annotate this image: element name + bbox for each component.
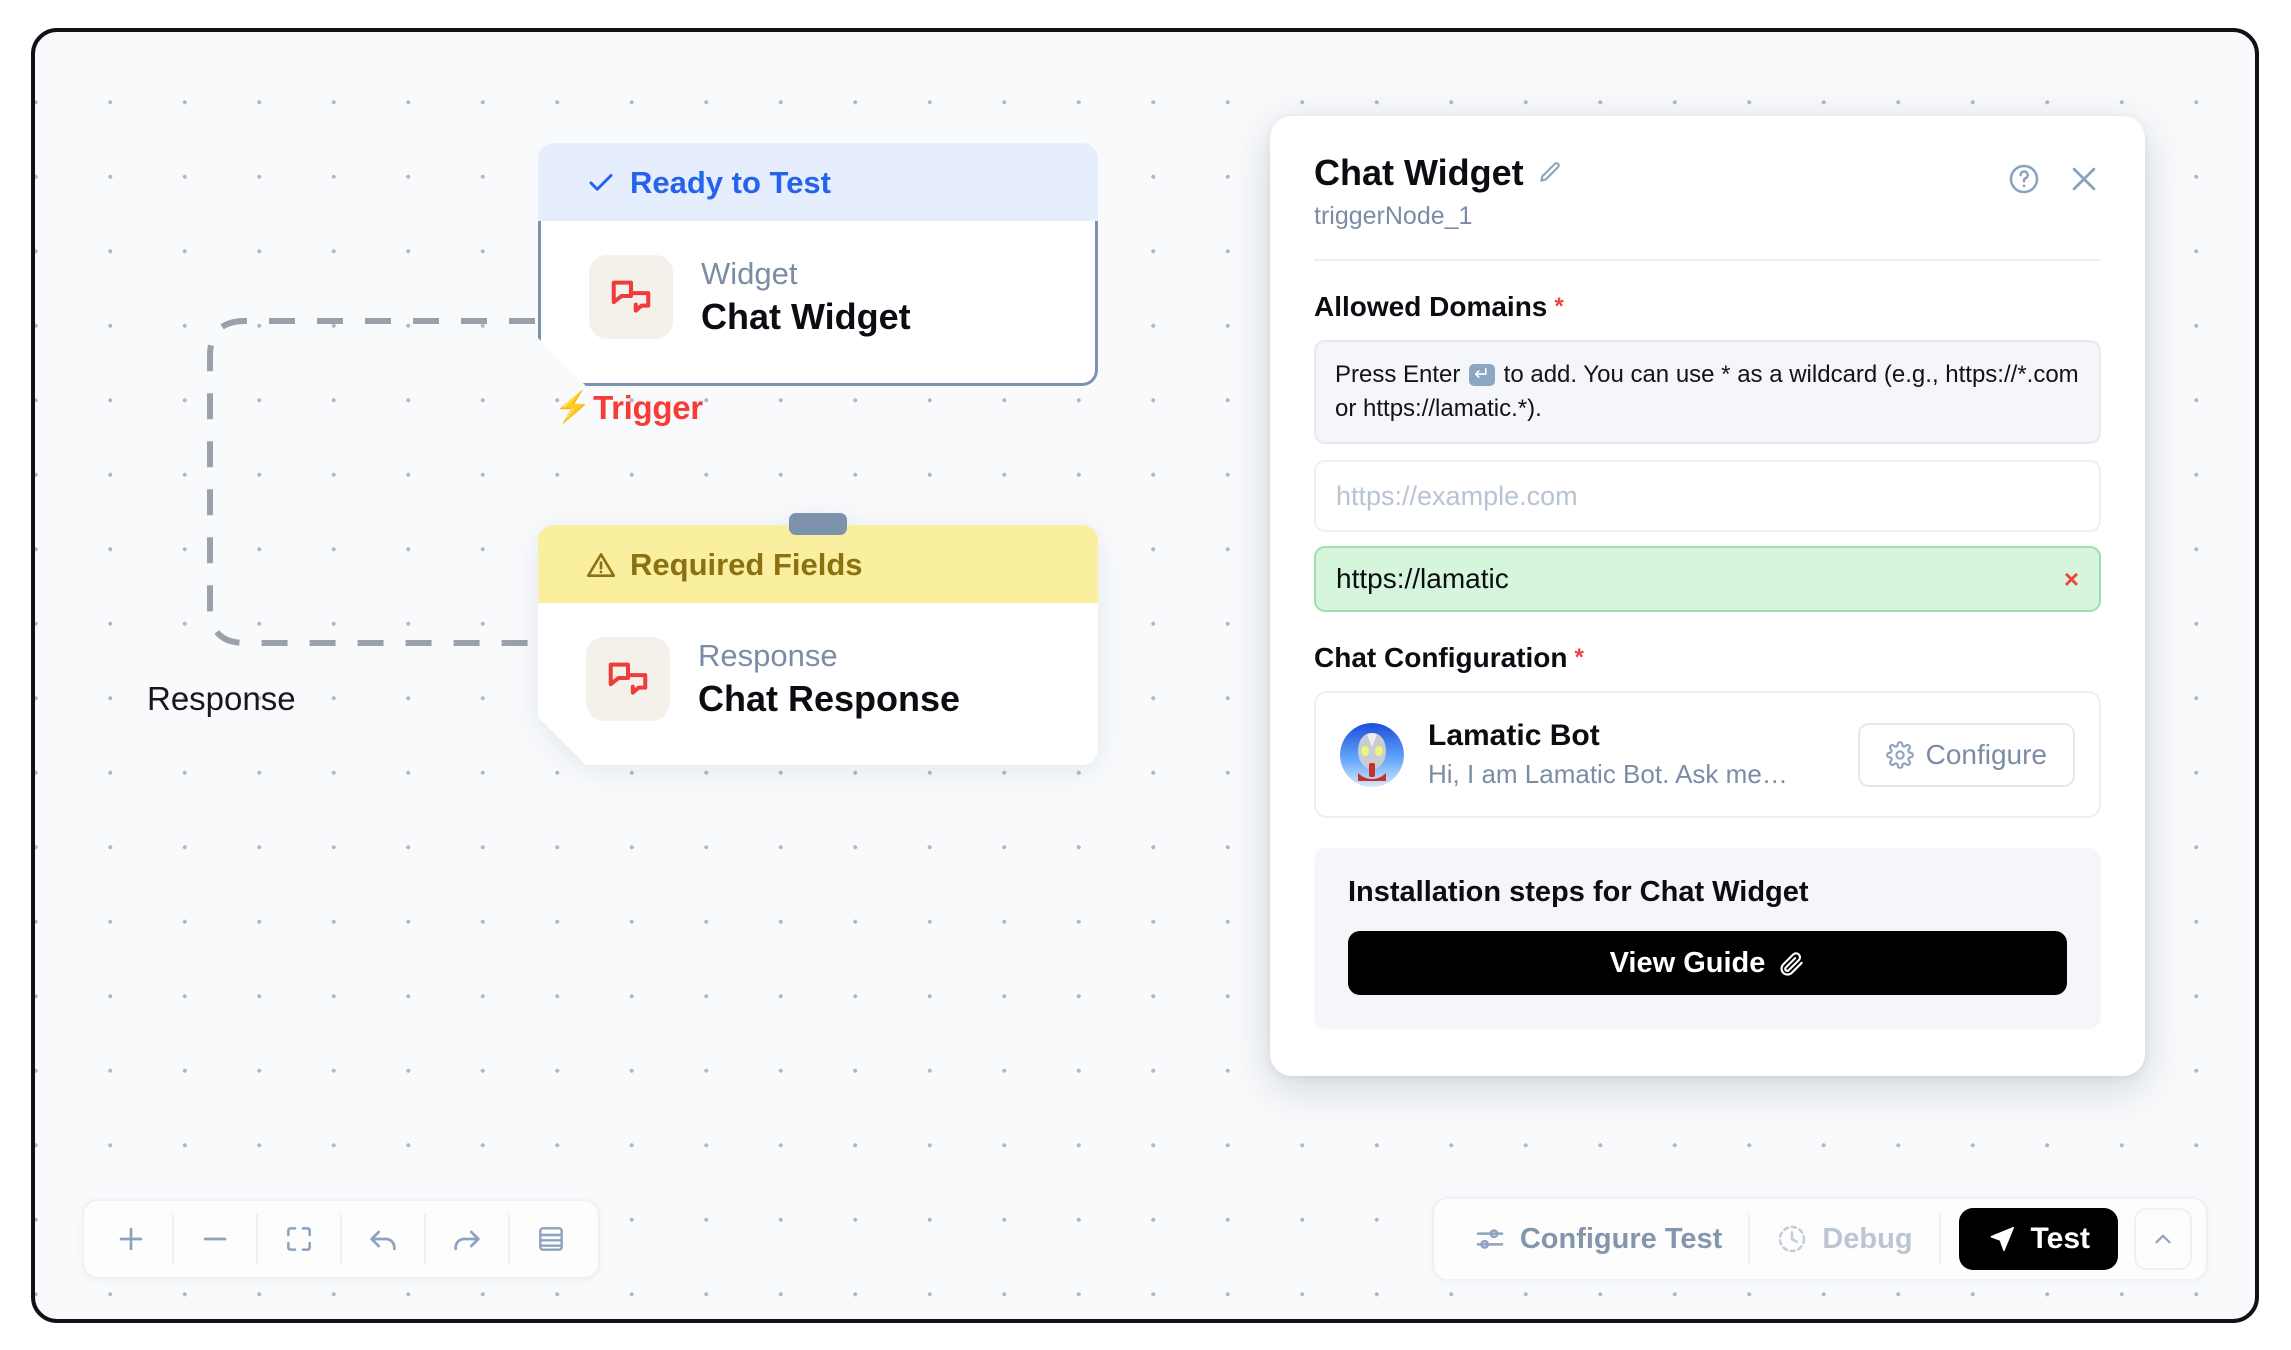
- gear-icon: [1886, 741, 1914, 769]
- allowed-domains-input-placeholder: https://example.com: [1336, 481, 1578, 512]
- canvas-zoom-toolbar[interactable]: [82, 1199, 600, 1279]
- sliders-icon: [1474, 1223, 1506, 1255]
- node-chat-widget[interactable]: Ready to Test Widget Chat Widget: [538, 143, 1098, 386]
- view-guide-button-label: View Guide: [1610, 947, 1766, 980]
- node-title-label: Chat Widget: [701, 296, 911, 338]
- configure-bot-button[interactable]: Configure: [1858, 723, 2075, 787]
- paperclip-icon: [1778, 950, 1805, 977]
- allowed-domains-hint: Press Enter ↵ to add. You can use * as a…: [1314, 340, 2101, 444]
- pencil-icon[interactable]: [1537, 160, 1563, 186]
- required-asterisk: *: [1554, 295, 1563, 319]
- allowed-domains-label: Allowed Domains *: [1314, 291, 2101, 323]
- panel-node-id: triggerNode_1: [1314, 202, 1563, 231]
- node-config-panel[interactable]: Chat Widget triggerNode_1: [1270, 116, 2145, 1076]
- configure-test-label: Configure Test: [1520, 1223, 1722, 1256]
- bot-description: Hi, I am Lamatic Bot. Ask me…: [1428, 759, 1834, 790]
- bolt-icon: ⚡: [554, 393, 591, 423]
- chat-configuration-label: Chat Configuration *: [1314, 642, 2101, 674]
- node-status-required: Required Fields: [538, 525, 1098, 603]
- chat-configuration-label-text: Chat Configuration: [1314, 642, 1568, 674]
- chat-bubbles-icon: [586, 637, 670, 721]
- panel-title-text: Chat Widget: [1314, 152, 1524, 194]
- node-title-label: Chat Response: [698, 678, 960, 720]
- chat-bubbles-icon: [589, 255, 673, 339]
- node-status-label: Ready to Test: [630, 165, 831, 201]
- redo-button[interactable]: [426, 1203, 508, 1275]
- close-icon[interactable]: [2067, 162, 2101, 196]
- node-status-ready: Ready to Test: [538, 143, 1098, 221]
- view-guide-button[interactable]: View Guide: [1348, 931, 2067, 995]
- chevron-up-icon[interactable]: [2134, 1208, 2192, 1270]
- clock-icon: [1776, 1223, 1808, 1255]
- allowed-domains-input[interactable]: https://example.com: [1314, 460, 2101, 532]
- panel-header: Chat Widget triggerNode_1: [1314, 152, 2101, 231]
- installation-steps-box: Installation steps for Chat Widget View …: [1314, 848, 2101, 1029]
- enter-key-icon: ↵: [1469, 364, 1495, 386]
- debug-label: Debug: [1822, 1223, 1912, 1256]
- panel-divider: [1314, 259, 2101, 261]
- send-icon: [1987, 1224, 2017, 1254]
- question-circle-icon[interactable]: [2007, 162, 2041, 196]
- node-status-label: Required Fields: [630, 547, 863, 583]
- configure-button-label: Configure: [1926, 739, 2047, 771]
- trigger-label-text: Trigger: [593, 389, 703, 427]
- node-body-response: Response Chat Response: [538, 603, 1098, 765]
- node-chat-response[interactable]: Required Fields Response Chat Response: [538, 525, 1098, 765]
- run-test-button[interactable]: Test: [1959, 1208, 2118, 1270]
- fit-screen-button[interactable]: [258, 1203, 340, 1275]
- hint-text-before: Press Enter: [1335, 361, 1460, 388]
- flow-canvas[interactable]: ⚡ Trigger Response Ready to Test: [31, 28, 2259, 1323]
- required-asterisk: *: [1575, 646, 1584, 670]
- app-root: ⚡ Trigger Response Ready to Test: [0, 0, 2291, 1350]
- undo-button[interactable]: [342, 1203, 424, 1275]
- node-kind-label: Response: [698, 638, 960, 674]
- node-target-handle-response[interactable]: [789, 513, 847, 535]
- installation-steps-title: Installation steps for Chat Widget: [1348, 876, 2067, 909]
- configure-test-button[interactable]: Configure Test: [1448, 1223, 1748, 1256]
- check-icon: [586, 168, 616, 198]
- bot-name: Lamatic Bot: [1428, 719, 1834, 753]
- allowed-domain-chip[interactable]: https://lamatic ×: [1314, 546, 2101, 612]
- node-kind-label: Widget: [701, 256, 911, 292]
- allowed-domain-chip-value: https://lamatic: [1336, 563, 1509, 595]
- toolbar-separator: [1939, 1214, 1941, 1264]
- warning-triangle-icon: [586, 550, 616, 580]
- list-panel-button[interactable]: [510, 1203, 592, 1275]
- run-test-label: Test: [2031, 1222, 2090, 1256]
- edge-label-response: Response: [147, 680, 296, 718]
- robot-face-avatar: [1340, 723, 1404, 787]
- panel-title-row: Chat Widget: [1314, 152, 1563, 194]
- node-body-widget: Widget Chat Widget: [538, 221, 1098, 386]
- debug-button[interactable]: Debug: [1750, 1223, 1938, 1256]
- bot-card[interactable]: Lamatic Bot Hi, I am Lamatic Bot. Ask me…: [1314, 691, 2101, 818]
- zoom-out-button[interactable]: [174, 1203, 256, 1275]
- zoom-in-button[interactable]: [90, 1203, 172, 1275]
- allowed-domains-label-text: Allowed Domains: [1314, 291, 1547, 323]
- edge-label-trigger: ⚡ Trigger: [554, 389, 703, 427]
- test-toolbar[interactable]: Configure Test Debug Test: [1432, 1197, 2208, 1281]
- close-small-icon[interactable]: ×: [2064, 564, 2079, 595]
